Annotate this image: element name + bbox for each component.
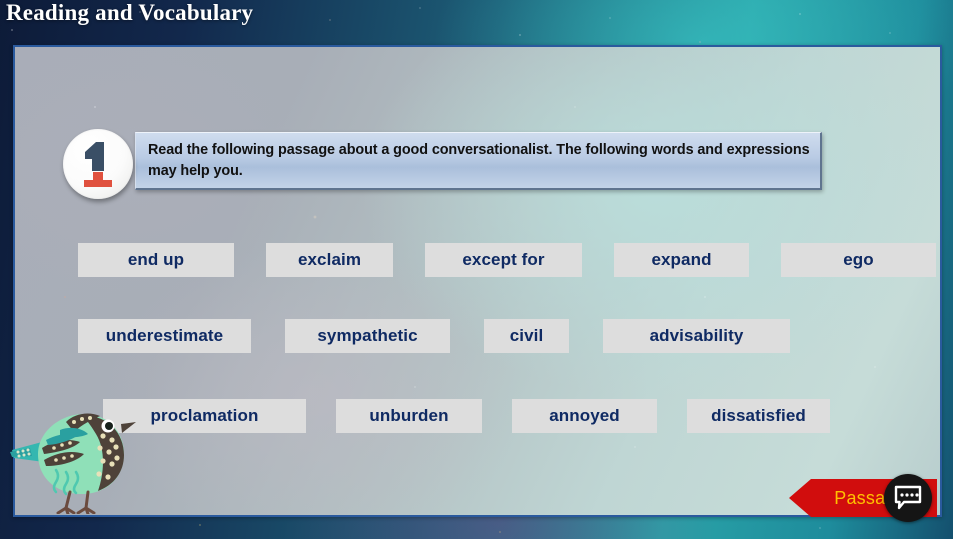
vocabulary-row-1: end up exclaim except for expand ego <box>78 243 936 277</box>
number-one-icon <box>63 129 133 199</box>
content-panel: Read the following passage about a good … <box>13 45 942 517</box>
vocab-chip-except-for[interactable]: except for <box>425 243 582 277</box>
slide-canvas: Reading and Vocabulary Read the followin… <box>0 0 953 539</box>
step-number-badge <box>63 129 133 199</box>
passage-speech-button[interactable] <box>884 474 932 522</box>
vocab-chip-underestimate[interactable]: underestimate <box>78 319 251 353</box>
bird-illustration <box>8 392 140 514</box>
instruction-text: Read the following passage about a good … <box>148 140 810 182</box>
vocab-chip-advisability[interactable]: advisability <box>603 319 790 353</box>
vocab-chip-unburden[interactable]: unburden <box>336 399 482 433</box>
vocab-chip-end-up[interactable]: end up <box>78 243 234 277</box>
vocab-chip-civil[interactable]: civil <box>484 319 569 353</box>
vocabulary-row-3: proclamation unburden annoyed dissatisfi… <box>103 399 830 433</box>
vocab-chip-exclaim[interactable]: exclaim <box>266 243 393 277</box>
vocab-chip-ego[interactable]: ego <box>781 243 936 277</box>
speech-bubble-icon <box>893 485 923 511</box>
vocab-chip-annoyed[interactable]: annoyed <box>512 399 657 433</box>
vocab-chip-sympathetic[interactable]: sympathetic <box>285 319 450 353</box>
instruction-callout: Read the following passage about a good … <box>135 132 822 190</box>
vocab-chip-expand[interactable]: expand <box>614 243 749 277</box>
vocabulary-row-2: underestimate sympathetic civil advisabi… <box>78 319 790 353</box>
page-title: Reading and Vocabulary <box>6 0 253 26</box>
vocab-chip-dissatisfied[interactable]: dissatisfied <box>687 399 830 433</box>
